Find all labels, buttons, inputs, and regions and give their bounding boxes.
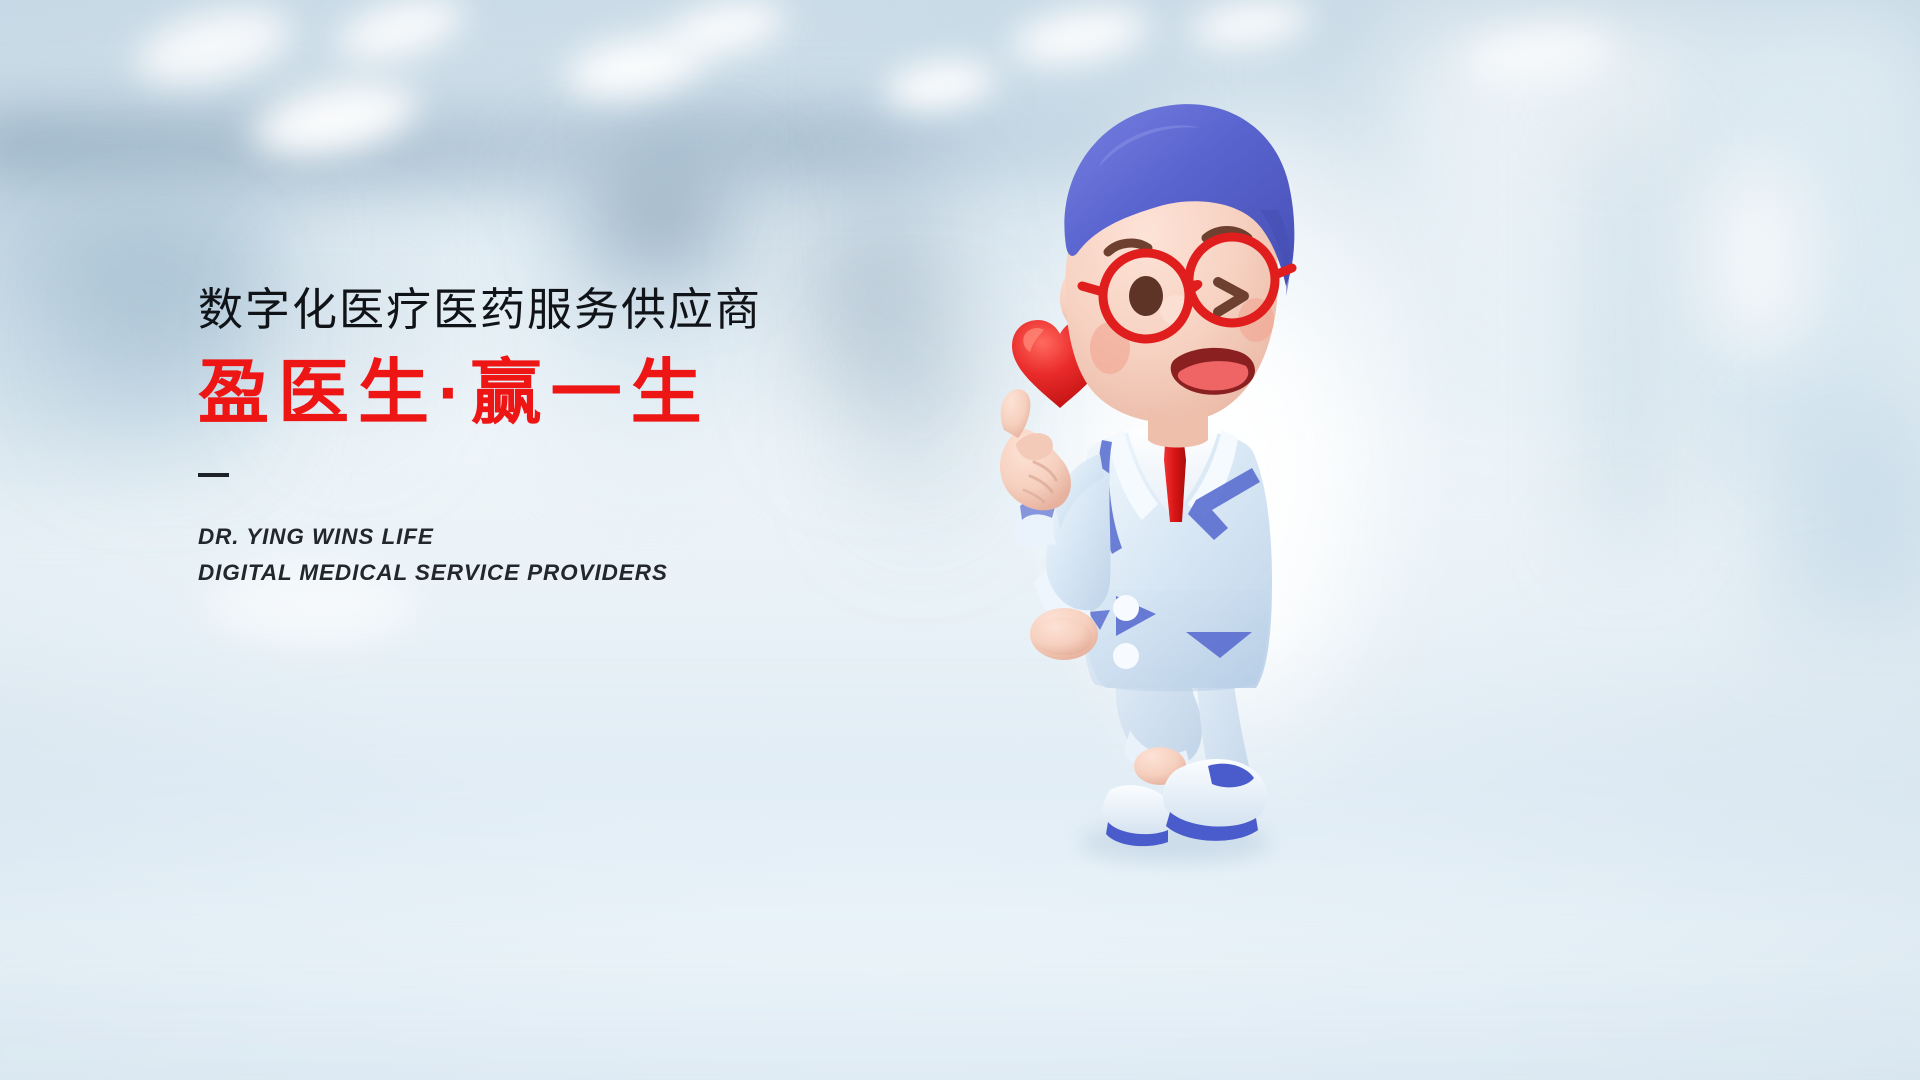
coat-button: [1113, 643, 1139, 669]
sneakers: [1103, 759, 1268, 846]
headline-chinese: 数字化医疗医药服务供应商: [198, 283, 1018, 336]
hero-banner: 数字化医疗医药服务供应商 盈医生·赢一生 DR. YING WINS LIFE …: [0, 0, 1920, 1080]
doctor-mascot: [960, 30, 1380, 870]
divider: [198, 473, 229, 477]
hero-copy: 数字化医疗医药服务供应商 盈医生·赢一生 DR. YING WINS LIFE …: [198, 283, 1018, 592]
subtitle-english: DR. YING WINS LIFE DIGITAL MEDICAL SERVI…: [198, 519, 1018, 592]
subtitle-line-2: DIGITAL MEDICAL SERVICE PROVIDERS: [198, 555, 1018, 591]
subtitle-line-1: DR. YING WINS LIFE: [198, 519, 1018, 555]
page-title: 盈医生·赢一生: [198, 354, 1018, 435]
coat-button: [1113, 595, 1139, 621]
head: [1060, 104, 1294, 447]
eye-open: [1129, 276, 1163, 316]
